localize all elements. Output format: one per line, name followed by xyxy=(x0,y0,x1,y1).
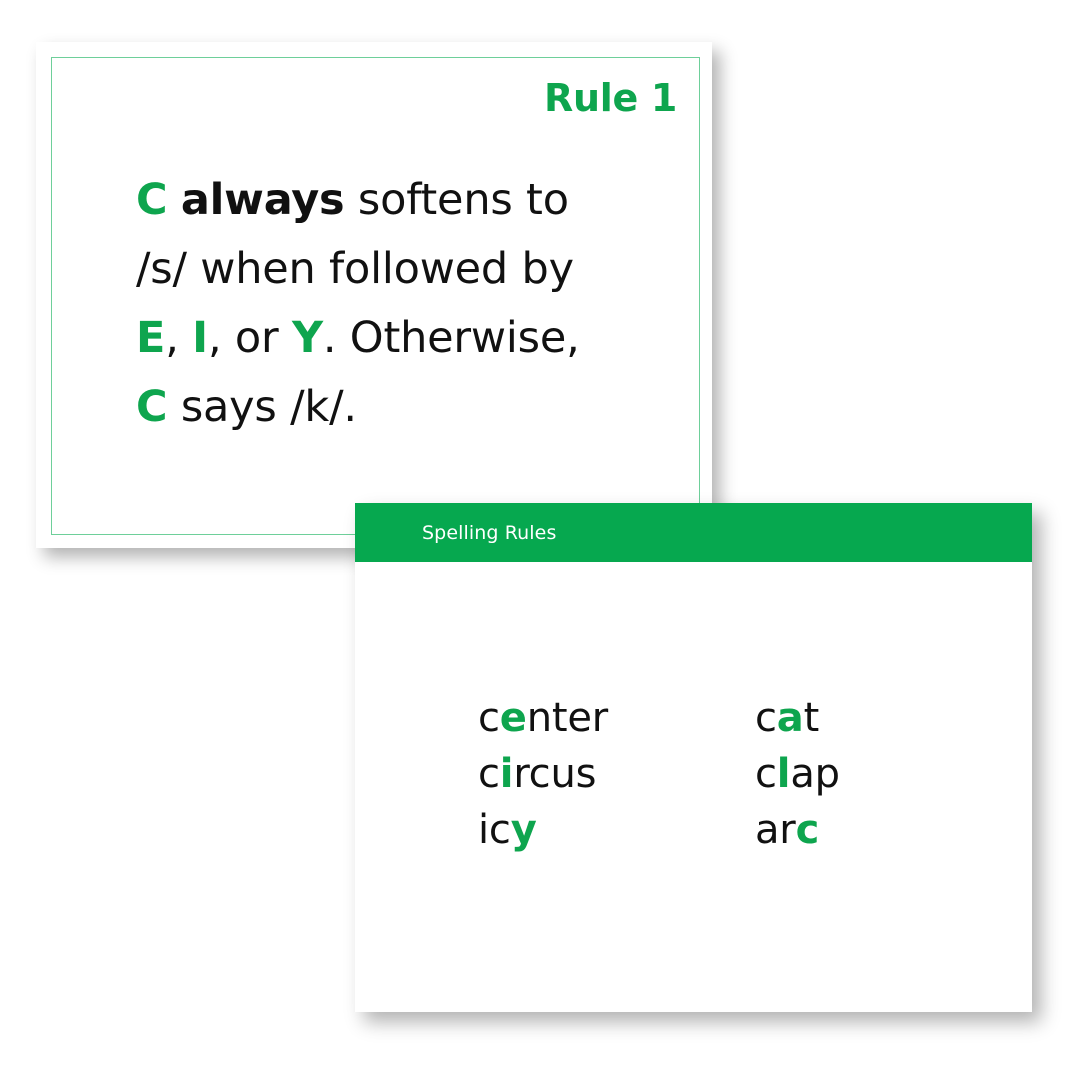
rule-text-run: C xyxy=(136,382,167,432)
word-prefix: c xyxy=(755,751,777,797)
word-example: circus xyxy=(478,746,608,802)
word-highlight-letter: e xyxy=(500,695,527,741)
rule-slide-card[interactable]: Rule 1 C always softens to /s/ when foll… xyxy=(36,42,712,548)
rule-text-run: Y xyxy=(292,313,323,363)
rule-text-run: E xyxy=(136,313,165,363)
rule-text-run: C xyxy=(136,175,167,225)
rule-text-run: , or xyxy=(208,313,292,363)
word-example: arc xyxy=(755,802,840,858)
page-title: Rule 1 xyxy=(544,76,677,120)
rule-text-run: . Otherwise, xyxy=(323,313,580,363)
word-example: icy xyxy=(478,802,608,858)
rule-line: /s/ when followed by xyxy=(136,235,669,304)
word-example: clap xyxy=(755,746,840,802)
rule-text-run: says /k/. xyxy=(167,382,357,432)
rule-card-inner-border: Rule 1 C always softens to /s/ when foll… xyxy=(51,57,700,535)
rule-text-run: I xyxy=(192,313,208,363)
word-prefix: c xyxy=(478,695,500,741)
examples-slide-card[interactable]: Spelling Rules centercircusicy catclapar… xyxy=(355,503,1032,1012)
rule-line: E, I, or Y. Otherwise, xyxy=(136,304,669,373)
word-example: center xyxy=(478,690,608,746)
word-prefix: ic xyxy=(478,807,511,853)
examples-body: centercircusicy catclaparc xyxy=(355,562,1032,1012)
soft-c-column: centercircusicy xyxy=(478,690,608,858)
hard-c-column: catclaparc xyxy=(755,690,840,858)
rule-text-run: softens to xyxy=(344,175,568,225)
word-prefix: ar xyxy=(755,807,796,853)
rule-text-run xyxy=(167,175,180,225)
slide-header-bar: Spelling Rules xyxy=(355,503,1032,562)
word-suffix: ap xyxy=(790,751,840,797)
rule-text-run: , xyxy=(165,313,192,363)
word-highlight-letter: i xyxy=(500,751,514,797)
rule-text-run: /s/ when followed by xyxy=(136,244,574,294)
word-highlight-letter: a xyxy=(777,695,804,741)
word-prefix: c xyxy=(478,751,500,797)
slide-header-title: Spelling Rules xyxy=(422,522,556,544)
rule-line: C says /k/. xyxy=(136,373,669,442)
word-prefix: c xyxy=(755,695,777,741)
word-suffix: nter xyxy=(527,695,608,741)
word-example: cat xyxy=(755,690,840,746)
word-suffix: rcus xyxy=(513,751,596,797)
rule-body-text: C always softens to /s/ when followed by… xyxy=(136,166,669,442)
word-suffix: t xyxy=(804,695,819,741)
word-highlight-letter: l xyxy=(777,751,791,797)
rule-line: C always softens to xyxy=(136,166,669,235)
word-highlight-letter: y xyxy=(511,807,537,853)
rule-text-run: always xyxy=(181,175,345,225)
word-highlight-letter: c xyxy=(796,807,820,853)
